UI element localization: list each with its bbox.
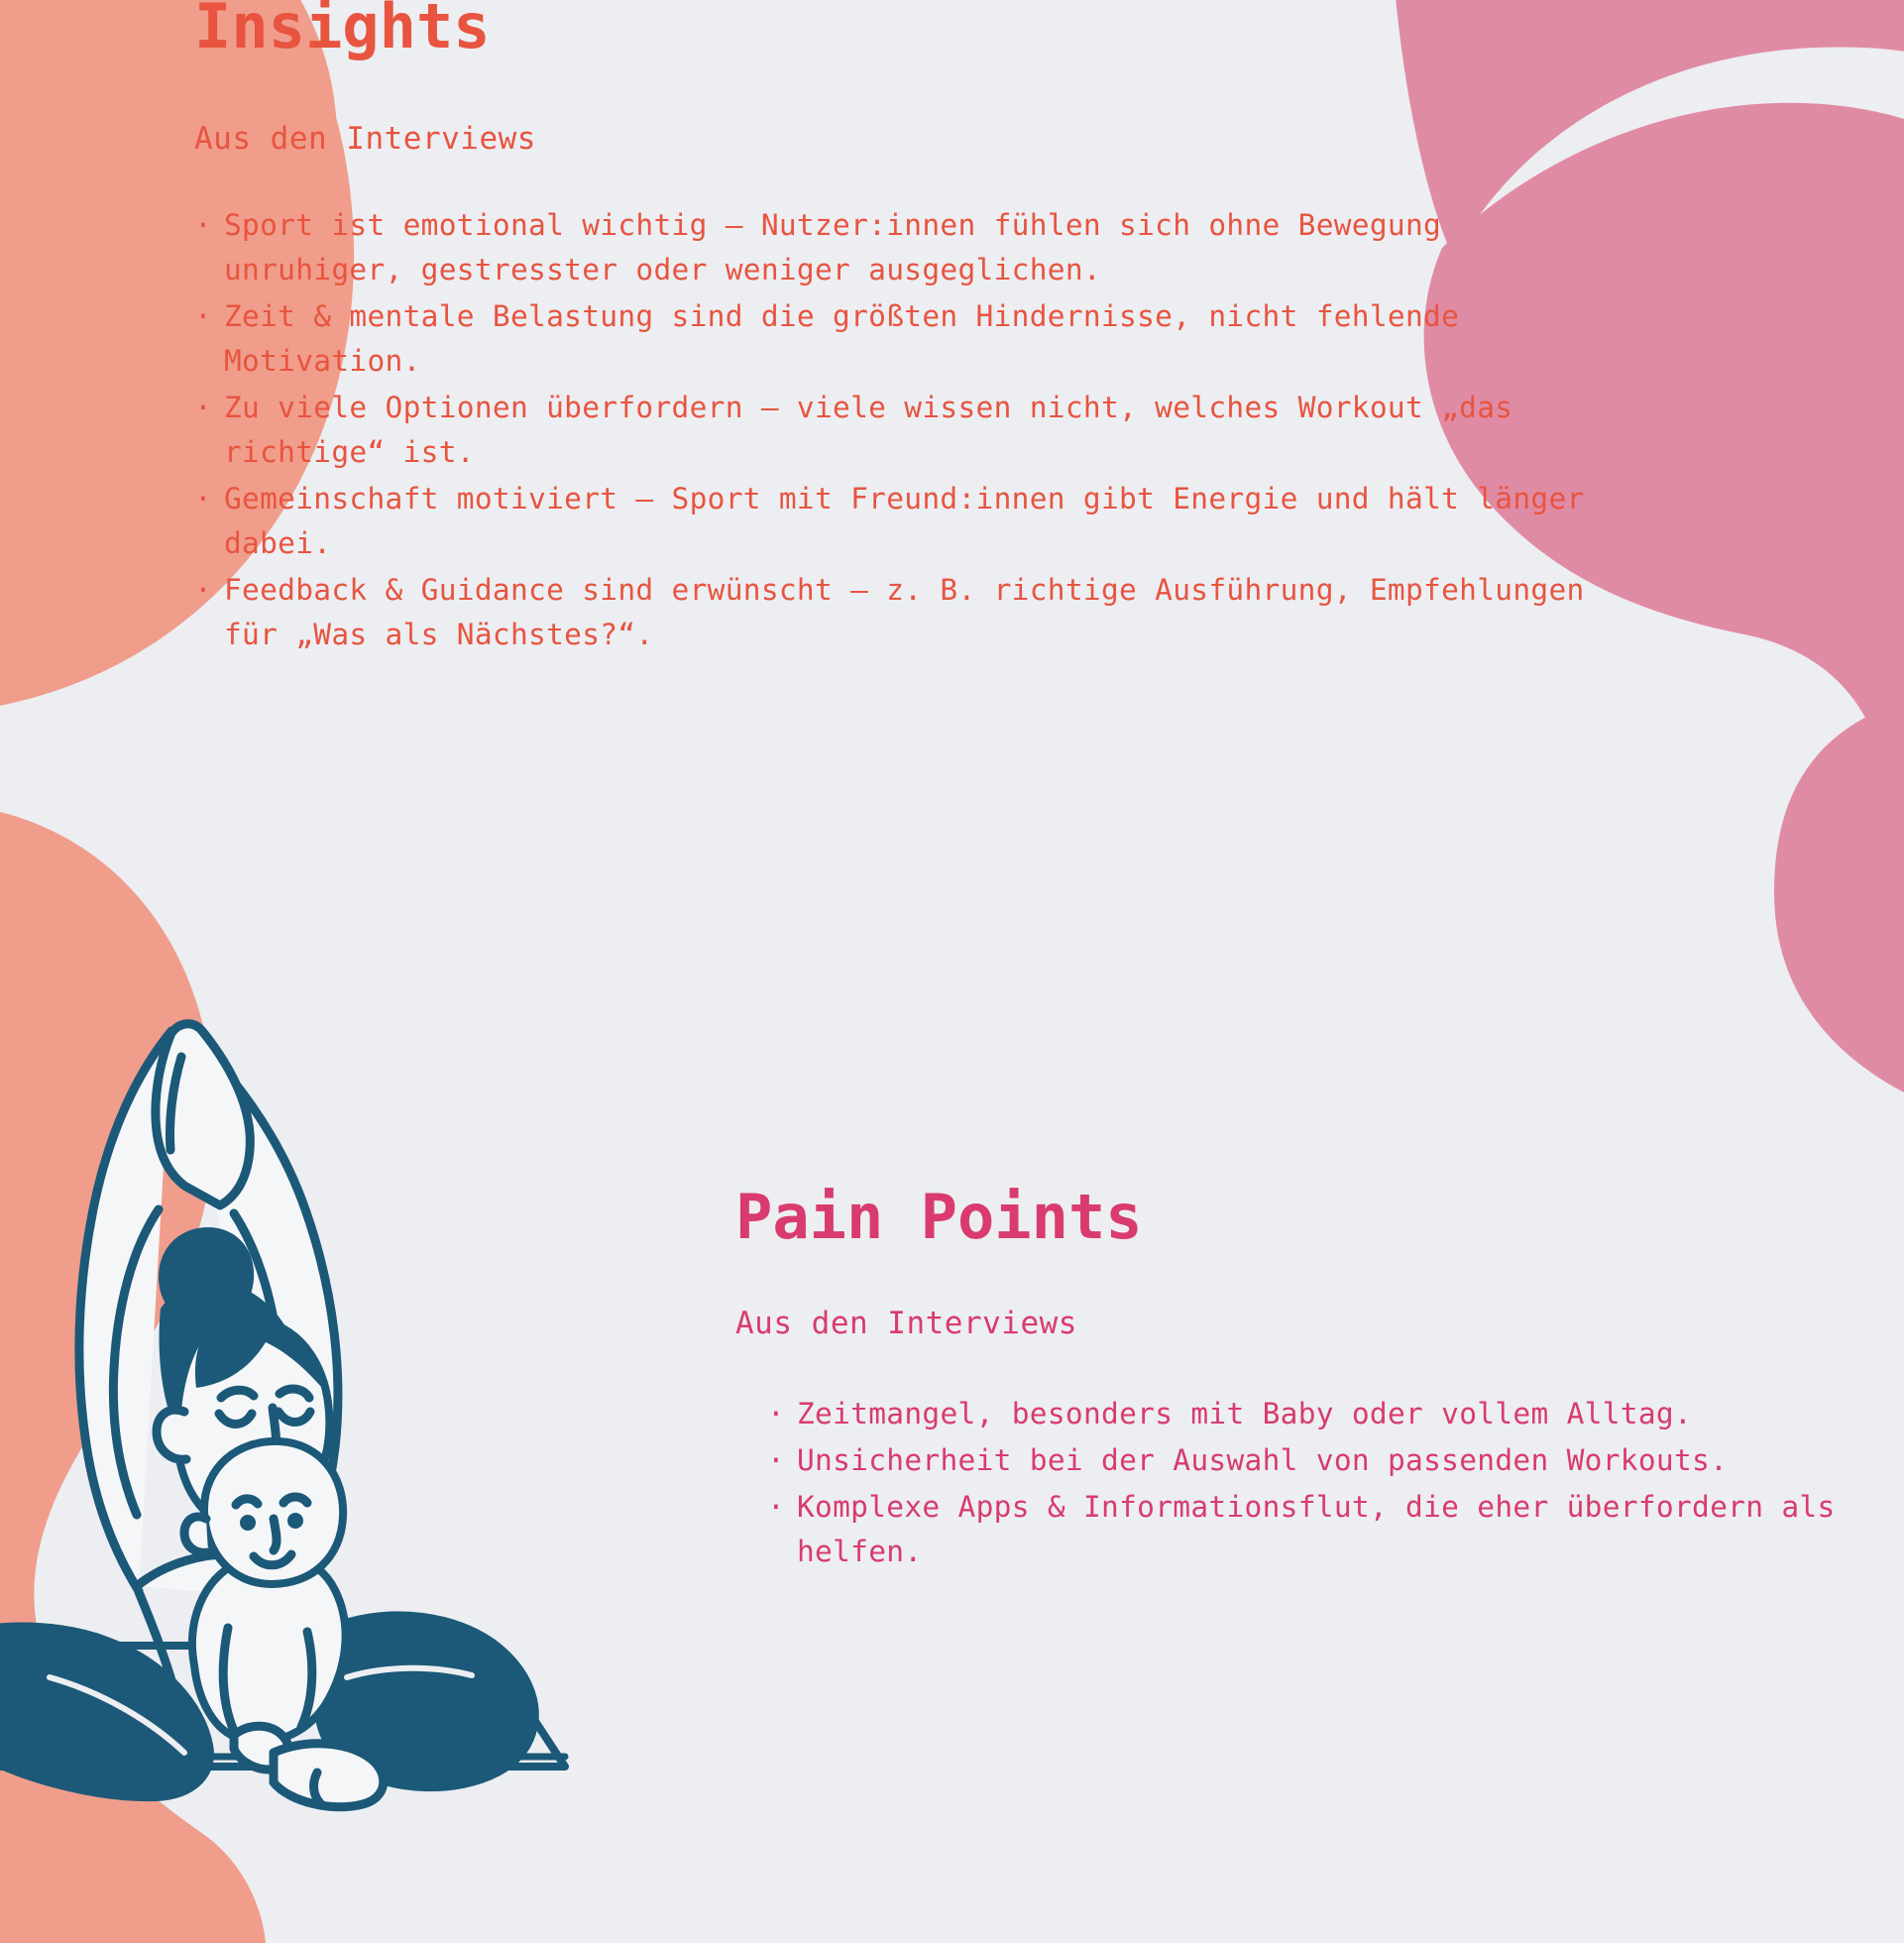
mother-foot <box>274 1744 384 1807</box>
list-item: · Komplexe Apps & Informationsflut, die … <box>767 1485 1885 1574</box>
bullet-dot: · <box>767 1392 785 1436</box>
baby-eye-right <box>287 1513 303 1529</box>
list-item: · Zu viele Optionen überfordern – viele … <box>194 386 1602 475</box>
list-item: · Feedback & Guidance sind erwünscht – z… <box>194 568 1602 657</box>
list-item: · Gemeinschaft motiviert – Sport mit Fre… <box>194 477 1602 566</box>
insights-bullet-list: · Sport ist emotional wichtig – Nutzer:i… <box>194 156 1602 657</box>
list-item-text: Zeitmangel, besonders mit Baby oder voll… <box>797 1397 1692 1430</box>
baby-eye-left <box>240 1515 256 1531</box>
painpoints-title: Pain Points <box>735 1185 1885 1249</box>
bullet-dot: · <box>194 294 212 339</box>
list-item-text: Zeit & mentale Belastung sind die größte… <box>224 299 1459 378</box>
insights-title: Insights <box>194 0 1602 58</box>
list-item-text: Feedback & Guidance sind erwünscht – z. … <box>224 573 1585 651</box>
list-item-text: Unsicherheit bei der Auswahl von passend… <box>797 1443 1728 1477</box>
woman-yoga-with-baby-illustration <box>0 1011 664 1824</box>
insights-subtitle: Aus den Interviews <box>194 58 1602 156</box>
insights-section: Insights Aus den Interviews · Sport ist … <box>194 0 1602 659</box>
bullet-dot: · <box>194 477 212 521</box>
baby-nose <box>274 1519 277 1550</box>
list-item-text: Gemeinschaft motiviert – Sport mit Freun… <box>224 482 1585 560</box>
painpoints-section: Pain Points Aus den Interviews · Zeitman… <box>735 1185 1885 1576</box>
list-item-text: Komplexe Apps & Informationsflut, die eh… <box>797 1490 1836 1568</box>
list-item-text: Sport ist emotional wichtig – Nutzer:inn… <box>224 208 1441 286</box>
bullet-dot: · <box>194 386 212 430</box>
bullet-dot: · <box>194 568 212 613</box>
list-item: · Zeitmangel, besonders mit Baby oder vo… <box>767 1392 1885 1436</box>
painpoints-subtitle: Aus den Interviews <box>735 1249 1885 1340</box>
bullet-dot: · <box>194 203 212 248</box>
list-item: · Zeit & mentale Belastung sind die größ… <box>194 294 1602 384</box>
bullet-dot: · <box>767 1485 785 1530</box>
bullet-dot: · <box>767 1438 785 1483</box>
painpoints-bullet-list: · Zeitmangel, besonders mit Baby oder vo… <box>735 1340 1885 1574</box>
ear <box>157 1410 186 1459</box>
list-item: · Unsicherheit bei der Auswahl von passe… <box>767 1438 1885 1483</box>
list-item-text: Zu viele Optionen überfordern – viele wi… <box>224 391 1512 469</box>
list-item: · Sport ist emotional wichtig – Nutzer:i… <box>194 203 1602 292</box>
baby-ear <box>184 1517 208 1552</box>
